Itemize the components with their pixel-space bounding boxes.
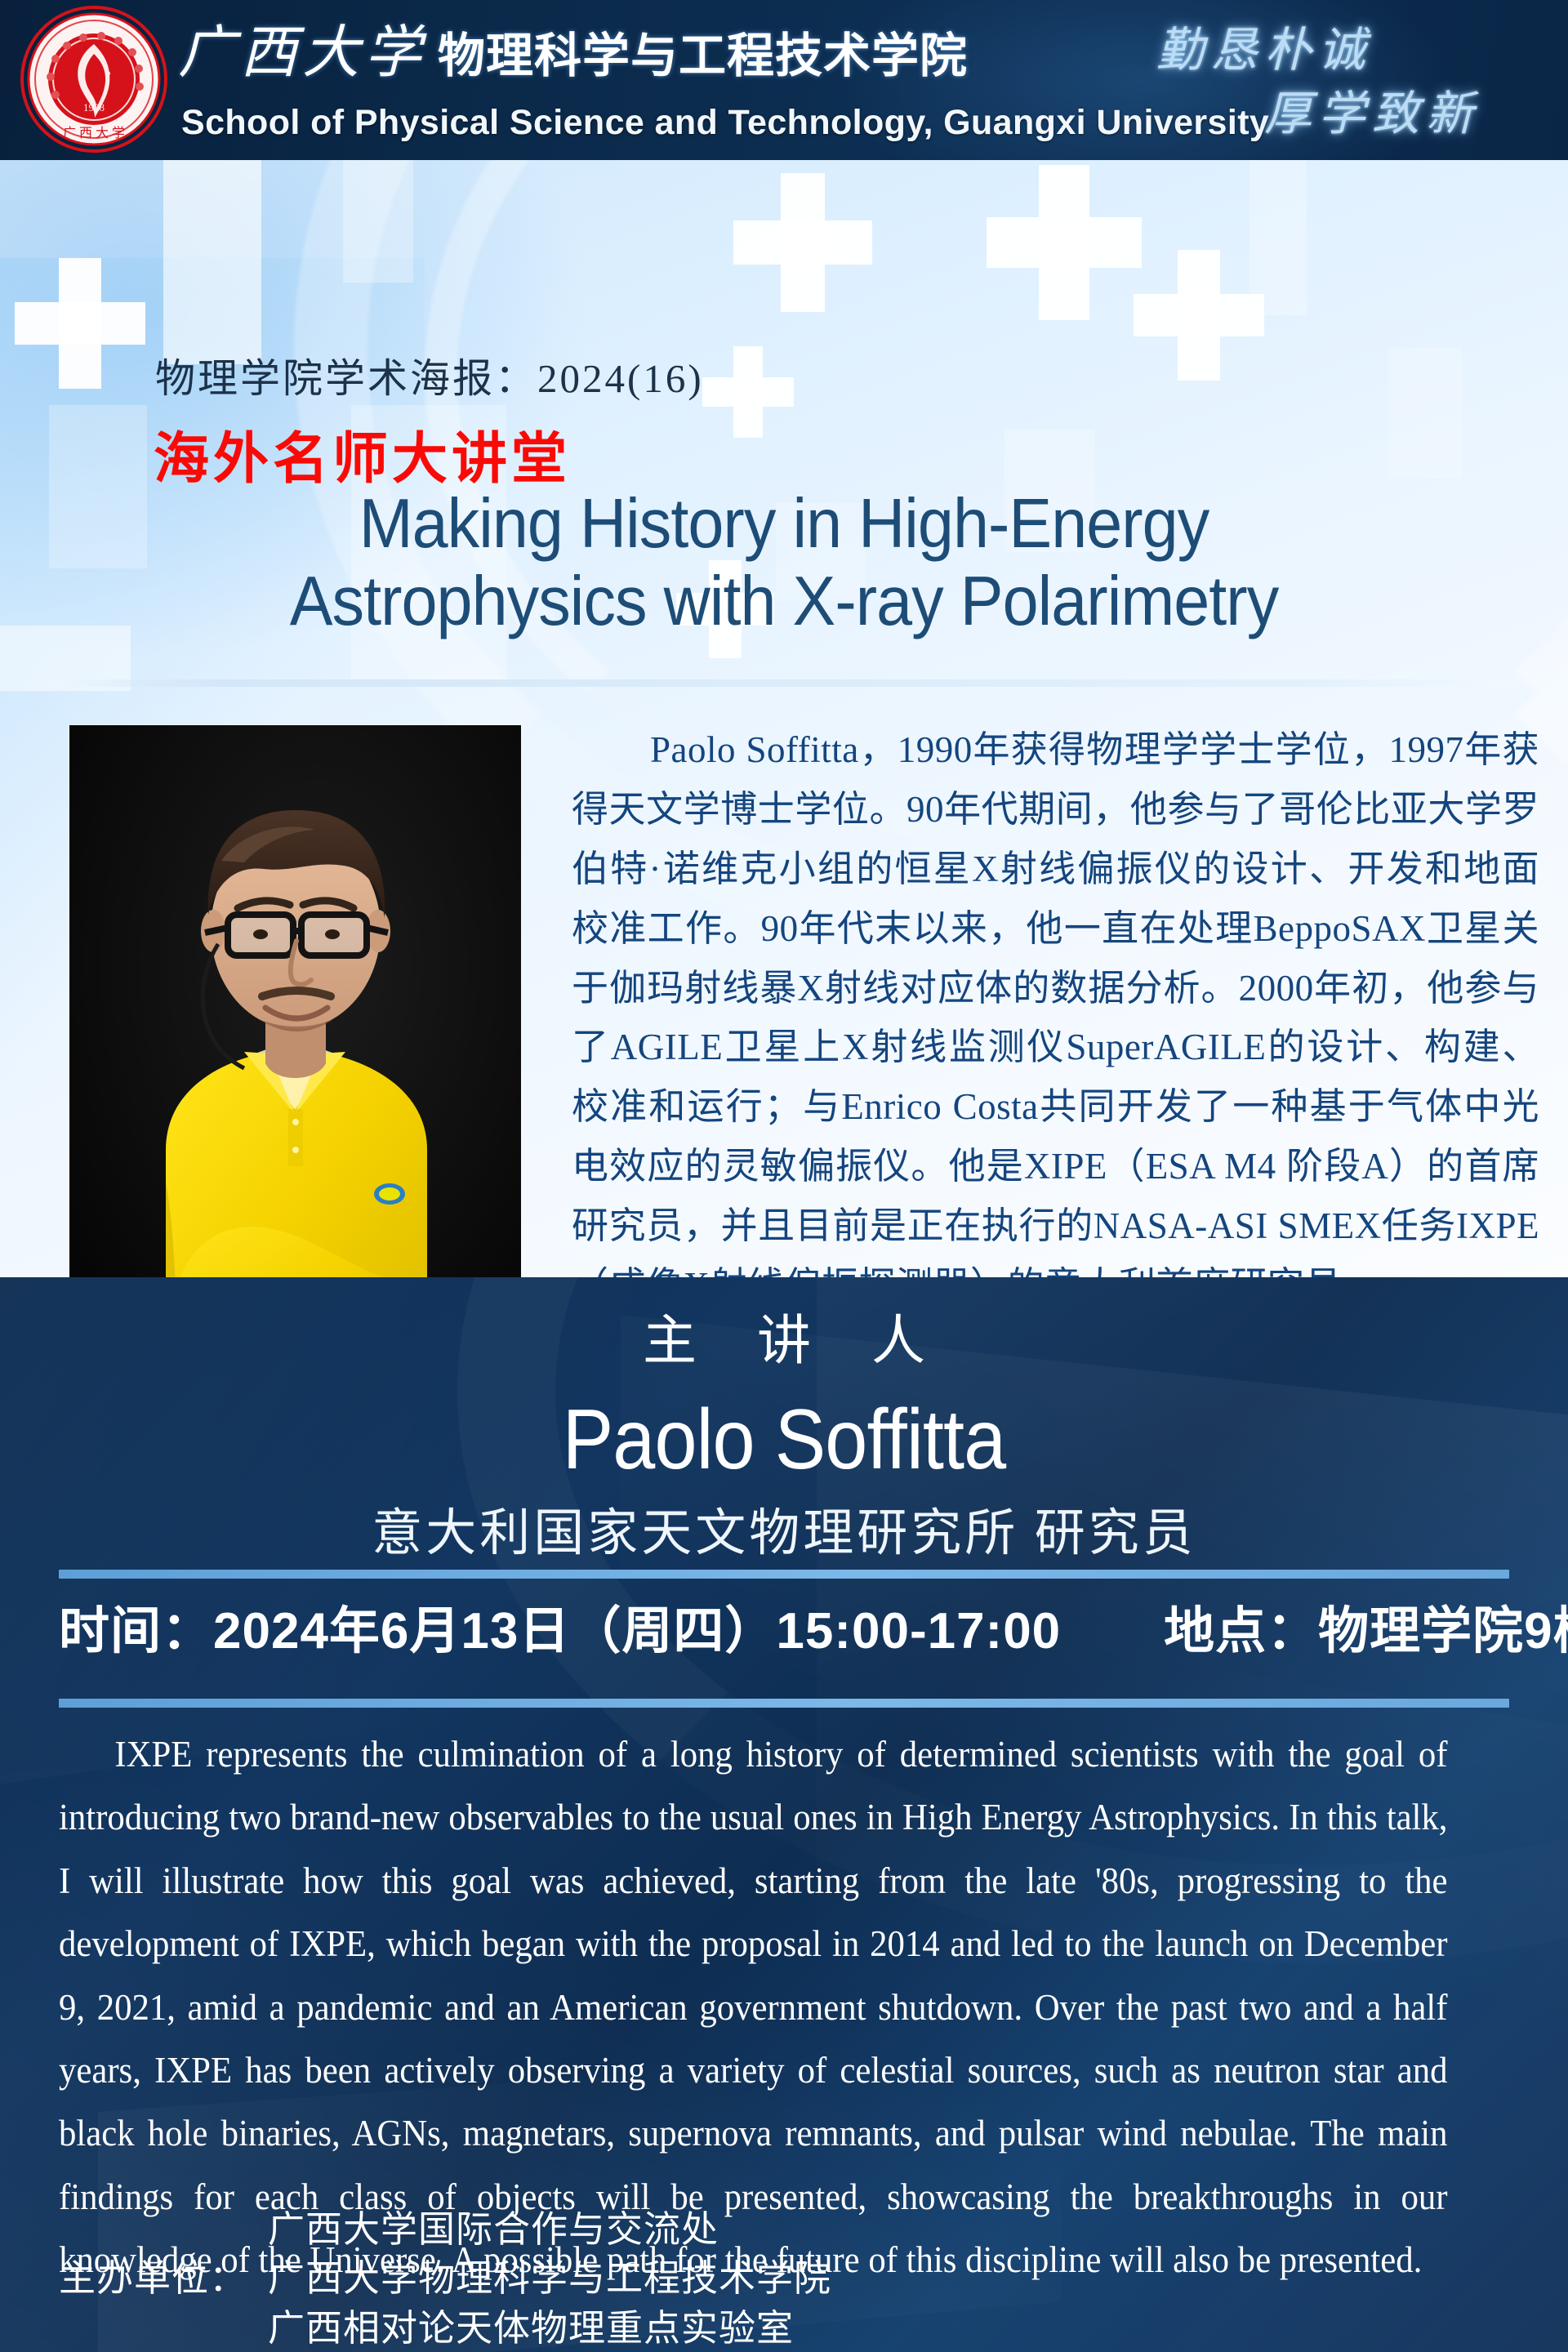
motto-line-1: 勤恳朴诚 (1156, 11, 1372, 80)
speaker-portrait-photo (69, 725, 521, 1277)
motto-line-2: 厚学致新 (1264, 75, 1480, 144)
square-decor (1249, 160, 1307, 315)
organizer-list: 广西大学国际合作与交流处 广西大学物理科学与工程技术学院 广西相对论天体物理重点… (268, 2205, 1202, 2352)
speaker-bio-text: Paolo Soffitta，1990年获得物理学学士学位，1997年获得天文学… (572, 720, 1539, 1277)
square-decor (1388, 348, 1462, 479)
organizer-label: 主办单位： (59, 2205, 268, 2304)
university-name-cn: 广西大学 (178, 22, 438, 85)
info-rule-bottom (59, 1699, 1509, 1708)
talk-title-line-1: Making History in High-Energy (100, 485, 1468, 563)
school-name-cn: 广西大学物理科学与工程技术学院 (178, 7, 968, 89)
speaker-label: 主讲人 (0, 1297, 1568, 1375)
square-decor (343, 160, 413, 283)
poster-number: 物理学院学术海报：2024(16) (155, 346, 704, 404)
speaker-affiliation: 意大利国家天文物理研究所 研究员 (0, 1491, 1568, 1565)
speaker-name: Paolo Soffitta (78, 1392, 1490, 1489)
department-name-cn: 物理科学与工程技术学院 (438, 29, 968, 82)
series-title: 海外名师大讲堂 (154, 413, 571, 494)
university-motto: 勤恳朴诚 厚学致新 (1142, 10, 1550, 149)
svg-text:广 西 大 学: 广 西 大 学 (63, 126, 125, 140)
svg-text:1928: 1928 (83, 101, 105, 114)
organizer-item: 广西大学国际合作与交流处 (268, 2205, 1202, 2254)
organizer-block: 主办单位： 广西大学国际合作与交流处 广西大学物理科学与工程技术学院 广西相对论… (59, 2205, 1202, 2352)
page-title: Making History in High-Energy Astrophysi… (100, 485, 1468, 640)
event-time-and-location: 时间：2024年6月13日（周四）15:00-17:00 地点：物理学院9楼B座… (59, 1589, 1509, 1663)
poster-upper-section: 物理学院学术海报：2024(16) 海外名师大讲堂 Making History… (0, 160, 1568, 1277)
poster-lower-section: 主讲人 Paolo Soffitta 意大利国家天文物理研究所 研究员 时间：2… (0, 1277, 1568, 2352)
academic-poster: 1928 广 西 大 学 广西大学物理科学与工程技术学院 School of P… (0, 0, 1568, 2352)
title-divider (49, 679, 1519, 687)
school-name-en: School of Physical Science and Technolog… (181, 103, 1269, 143)
organizer-item: 广西相对论天体物理重点实验室 (268, 2304, 1202, 2352)
gxu-seal-logo-icon: 1928 广 西 大 学 (20, 5, 168, 154)
info-rule-top (59, 1570, 1509, 1579)
square-decor (163, 160, 261, 364)
organizer-item: 广西大学物理科学与工程技术学院 (268, 2254, 1202, 2303)
header-banner: 1928 广 西 大 学 广西大学物理科学与工程技术学院 School of P… (0, 0, 1568, 160)
talk-title-line-2: Astrophysics with X-ray Polarimetry (100, 563, 1468, 640)
